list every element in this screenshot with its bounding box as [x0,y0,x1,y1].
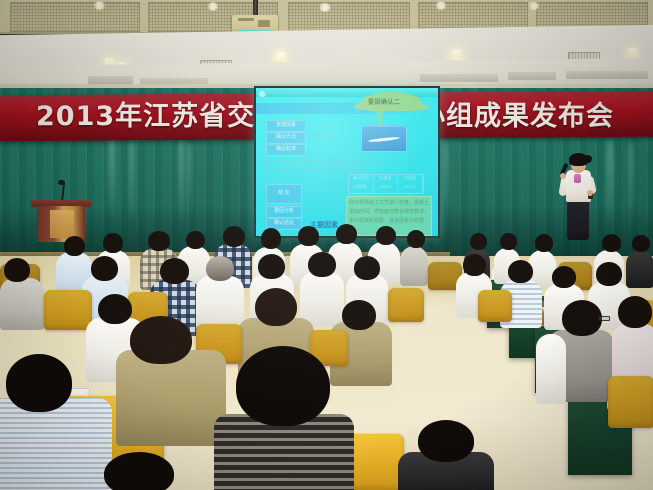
person-head [160,258,189,284]
person-head [64,236,85,256]
audience-chair[interactable] [608,376,653,428]
slide-lower-box-2: 要因分析 [266,206,302,218]
person-head [186,231,205,249]
ceiling-light [318,3,332,12]
person-head [407,230,425,248]
cloud-callout-label: 要因确认二 [368,97,401,106]
person-head [508,260,533,283]
person-head [308,252,336,277]
person-arm-sleeve [536,334,566,404]
presenter-hand-left [560,173,566,179]
person-head [130,316,192,364]
person-head [6,354,72,412]
person-torso [116,350,226,446]
person-torso [0,398,112,490]
person-head [562,300,602,336]
slide-table-header-1: 确认项目 [349,175,374,184]
person-head-grey-hair [206,256,234,281]
person-head [223,226,245,247]
organization-logo-icon [258,90,266,98]
person-head [463,254,486,276]
slide-table-cell-2: ≥95% [374,184,399,193]
slide-table-cell-3: 97.2% [398,184,423,193]
person-head [596,262,622,286]
slide-table-header-3: 实测值 [398,175,423,184]
person-head [98,294,132,324]
person-head [104,452,174,490]
person-head [258,254,285,279]
person-head [354,256,380,280]
person-head [261,228,281,249]
person-torso [300,272,344,326]
ceiling-strip [88,76,133,84]
person-head [376,226,396,245]
slide-logo-text: 江苏省交通运输厅 [267,89,311,96]
person-head [91,256,118,281]
ceiling-light [528,2,540,10]
person-torso [626,250,653,288]
slide-table-header-2: 标准值 [374,175,399,184]
banner-text-right: 小组成果发布会 [418,99,614,135]
ceiling-light [207,2,219,11]
person-head [236,346,330,426]
slide-photo-thumbnail [361,126,407,152]
person-head [552,266,576,288]
presenter-hand-right [587,190,593,196]
projection-screen: 江苏省交通运输厅 要因确认二 末端因素 确认方法 确认标准 现场照片 通过对现场… [256,88,438,236]
person-torso [400,246,428,286]
person-head [418,420,474,462]
eyeglasses [598,316,610,321]
ceiling-acoustic-panel [10,2,140,32]
person-torso [196,276,244,330]
person-head [148,231,170,251]
slide-lower-box-1: 结 论 [266,184,302,204]
person-head [298,226,319,246]
ceiling-light [435,1,447,10]
person-head [602,234,621,252]
slide-body-text-1: 通过对现场数据的采集与整理分析，确认该项 [264,158,370,165]
person-head [342,300,376,330]
slide-mid-note-a: 现场照片 [312,132,333,139]
person-head [500,233,517,250]
slide-left-box-2: 确认方法 [266,132,306,144]
presenter-skirt [567,198,589,240]
person-torso [0,278,44,330]
person-head [470,233,487,250]
person-head [535,234,553,252]
podium-front-panel [50,210,74,238]
person-head [632,235,650,252]
slide-data-table: 确认项目 标准值 实测值 合格率 ≥95% 97.2% [348,174,424,194]
ceiling-acoustic-panel [288,2,410,32]
projector-lens [258,20,270,27]
slide-table-cell-1: 合格率 [349,184,374,193]
slide-left-box-1: 末端因素 [266,120,306,132]
person-head [255,288,297,326]
projector-vent [238,18,254,21]
audience-chair[interactable] [44,290,92,330]
presenter-hair-bun [584,155,592,163]
ceiling-light [93,1,106,10]
audience-chair[interactable] [388,288,424,322]
person-head [4,258,30,282]
ceiling-strip [566,71,648,79]
ceiling-strip [508,72,556,80]
slide-body-text-2: 因素对质量指标影响显著，判定为主要原因。 [264,166,370,173]
person-head [103,233,123,253]
conference-hall-photo: 2013年江苏省交 小组成果发布会 江苏省交通运输厅 要因确认二 末端因素 确认… [0,0,653,490]
ceiling-strip [420,74,498,82]
banner-text-left: 2013年江苏省交 [36,99,255,135]
presenter-scarf [574,174,581,183]
audience-chair[interactable] [478,290,512,322]
person-head [336,224,357,244]
slide-left-box-3: 确认标准 [266,144,306,156]
person-head [618,296,652,328]
